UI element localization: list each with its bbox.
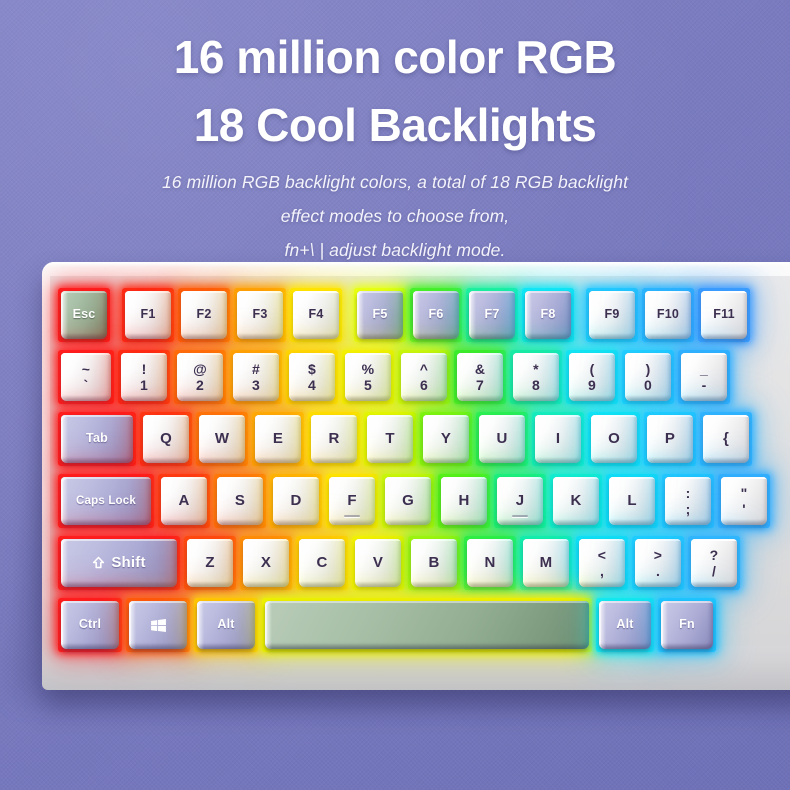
key-5[interactable]: %5 xyxy=(345,353,391,401)
key-6[interactable]: ^6 xyxy=(401,353,447,401)
key-glow-f11: F11 xyxy=(698,288,750,342)
number-row: ~`!1@2#3$4%5^6&7*8(9)0_- xyxy=(58,350,734,404)
key-fn[interactable]: Fn xyxy=(661,601,713,649)
key-alt[interactable]: Alt xyxy=(197,601,255,649)
key-glow-n: N xyxy=(464,536,516,590)
key-label: I xyxy=(556,431,560,447)
key-glow-esc: Esc xyxy=(58,288,110,342)
key-label: <, xyxy=(598,548,606,579)
promo-image: 16 million color RGB 18 Cool Backlights … xyxy=(0,0,790,790)
key-3[interactable]: #3 xyxy=(233,353,279,401)
key-label: $4 xyxy=(308,362,316,393)
key-r[interactable]: R xyxy=(311,415,357,463)
key-f1[interactable]: F1 xyxy=(125,291,171,339)
key-label: F5 xyxy=(373,308,388,321)
key-s[interactable]: S xyxy=(217,477,263,525)
key-glow-6: ^6 xyxy=(398,350,450,404)
key-b[interactable]: B xyxy=(411,539,457,587)
key-label: C xyxy=(316,555,327,571)
key-label: F3 xyxy=(253,308,268,321)
key-label: Z xyxy=(205,555,214,571)
key-ctrl[interactable]: Ctrl xyxy=(61,601,119,649)
key-d[interactable]: D xyxy=(273,477,319,525)
key-glow-alt: Alt xyxy=(194,598,258,652)
key-glow-j: J xyxy=(494,474,546,528)
key-label: Y xyxy=(441,431,451,447)
home-row: Caps LockASDFGHJKL:;"' xyxy=(58,474,774,528)
page-title: 16 million color RGB 18 Cool Backlights xyxy=(0,0,790,159)
key-label: W xyxy=(215,431,229,447)
key-label: A xyxy=(178,493,189,509)
key-label: "' xyxy=(741,486,748,517)
key-glow-key-2-11: { xyxy=(700,412,752,466)
key-glow-a: A xyxy=(158,474,210,528)
key-f6[interactable]: F6 xyxy=(413,291,459,339)
key-glow-g: G xyxy=(382,474,434,528)
qwerty-row: TabQWERTYUIOP{ xyxy=(58,412,756,466)
key-label: Tab xyxy=(86,432,108,445)
key-9[interactable]: (9 xyxy=(569,353,615,401)
key-glow-l: L xyxy=(606,474,658,528)
key-label: !1 xyxy=(140,362,148,393)
key-glow-0: )0 xyxy=(622,350,674,404)
key-t[interactable]: T xyxy=(367,415,413,463)
key-glow-e: E xyxy=(252,412,304,466)
key-2[interactable]: @2 xyxy=(177,353,223,401)
key-glow-key-1-0: ~` xyxy=(58,350,114,404)
key-j[interactable]: J xyxy=(497,477,543,525)
key-glow-x: X xyxy=(240,536,292,590)
key-glow-ctrl: Ctrl xyxy=(58,598,122,652)
key-label: G xyxy=(402,493,414,509)
key-glow-f4: F4 xyxy=(290,288,342,342)
key-glow-caps-lock: Caps Lock xyxy=(58,474,154,528)
key-label: F7 xyxy=(485,308,500,321)
key-label: F9 xyxy=(605,308,620,321)
key-label: *8 xyxy=(532,362,540,393)
homing-bar xyxy=(512,515,528,517)
key-label: #3 xyxy=(252,362,260,393)
key-x[interactable]: X xyxy=(243,539,289,587)
key-label: J xyxy=(516,493,525,509)
headline-line-1: 16 million color RGB xyxy=(174,31,616,83)
key-glow-tab: Tab xyxy=(58,412,136,466)
key-tab[interactable]: Tab xyxy=(61,415,133,463)
shift-arrow-up-icon xyxy=(92,556,105,569)
key-glow-f3: F3 xyxy=(234,288,286,342)
key-f4[interactable]: F4 xyxy=(293,291,339,339)
key-label: D xyxy=(290,493,301,509)
key-glow-3: #3 xyxy=(230,350,282,404)
key-glow-1: !1 xyxy=(118,350,170,404)
key-label: P xyxy=(665,431,675,447)
key-n[interactable]: N xyxy=(467,539,513,587)
key-key-3-11[interactable]: "' xyxy=(721,477,767,525)
key-label: F2 xyxy=(197,308,212,321)
bottom-row: CtrlAltAltFn xyxy=(58,598,720,652)
key-label: %5 xyxy=(362,362,375,393)
key-k[interactable]: K xyxy=(553,477,599,525)
key-alt[interactable]: Alt xyxy=(599,601,651,649)
key-glow-h: H xyxy=(438,474,490,528)
key-i[interactable]: I xyxy=(535,415,581,463)
key-glow-f2: F2 xyxy=(178,288,230,342)
key-label: Shift xyxy=(92,555,145,571)
key-label: V xyxy=(373,555,383,571)
key-glow-r: R xyxy=(308,412,360,466)
function-row: EscF1F2F3F4F5F6F7F8F9F10F11 xyxy=(58,288,754,342)
key-m[interactable]: M xyxy=(523,539,569,587)
key-space[interactable] xyxy=(265,601,589,649)
key-f[interactable]: F xyxy=(329,477,375,525)
key-glow-f8: F8 xyxy=(522,288,574,342)
key-key-1-0[interactable]: ~` xyxy=(61,353,111,401)
key-u[interactable]: U xyxy=(479,415,525,463)
key-label: :; xyxy=(686,486,691,517)
key-glow-key-4-9: >. xyxy=(632,536,684,590)
key-label: B xyxy=(428,555,439,571)
key-glow-f10: F10 xyxy=(642,288,694,342)
marketing-copy: 16 million color RGB 18 Cool Backlights … xyxy=(0,0,790,268)
key-q[interactable]: Q xyxy=(143,415,189,463)
key-label: Alt xyxy=(217,618,234,631)
key-label: T xyxy=(385,431,394,447)
key-glow-f9: F9 xyxy=(586,288,638,342)
key-label: _- xyxy=(700,362,708,393)
key-caps-lock[interactable]: Caps Lock xyxy=(61,477,151,525)
key-label: ^6 xyxy=(420,362,428,393)
key-label: F6 xyxy=(429,308,444,321)
key-label: R xyxy=(328,431,339,447)
key-label: F4 xyxy=(309,308,324,321)
key-glow-win xyxy=(126,598,190,652)
key-o[interactable]: O xyxy=(591,415,637,463)
key-key-4-10[interactable]: ?/ xyxy=(691,539,737,587)
subtitle-line-2: effect modes to choose from, xyxy=(0,199,790,233)
key-glow-p: P xyxy=(644,412,696,466)
key-label: F8 xyxy=(541,308,556,321)
key-glow-s: S xyxy=(214,474,266,528)
key-glow-4: $4 xyxy=(286,350,338,404)
key-glow-2: @2 xyxy=(174,350,226,404)
key-glow-space xyxy=(262,598,592,652)
key-label: F1 xyxy=(141,308,156,321)
key-y[interactable]: Y xyxy=(423,415,469,463)
key-e[interactable]: E xyxy=(255,415,301,463)
key-label: E xyxy=(273,431,283,447)
key-glow-v: V xyxy=(352,536,404,590)
key-label: S xyxy=(235,493,245,509)
key-glow-o: O xyxy=(588,412,640,466)
key-key-4-9[interactable]: >. xyxy=(635,539,681,587)
key-key-1-11[interactable]: _- xyxy=(681,353,727,401)
key-shift[interactable]: Shift xyxy=(61,539,177,587)
key-glow-key-1-11: _- xyxy=(678,350,730,404)
key-label: Caps Lock xyxy=(76,495,136,507)
key-glow-u: U xyxy=(476,412,528,466)
key-glow-f: F xyxy=(326,474,378,528)
key-label: U xyxy=(496,431,507,447)
key-f2[interactable]: F2 xyxy=(181,291,227,339)
key-glow-q: Q xyxy=(140,412,192,466)
key-1[interactable]: !1 xyxy=(121,353,167,401)
key-glow-alt: Alt xyxy=(596,598,654,652)
key-label: >. xyxy=(654,548,662,579)
key-glow-key-4-8: <, xyxy=(576,536,628,590)
key-glow-c: C xyxy=(296,536,348,590)
key-key-3-10[interactable]: :; xyxy=(665,477,711,525)
key-label: M xyxy=(540,555,553,571)
shift-row: ShiftZXCVBNM<,>.?/ xyxy=(58,536,744,590)
key-g[interactable]: G xyxy=(385,477,431,525)
key-h[interactable]: H xyxy=(441,477,487,525)
key-glow-8: *8 xyxy=(510,350,562,404)
key-4[interactable]: $4 xyxy=(289,353,335,401)
key-label: &7 xyxy=(475,362,485,393)
key-glow-k: K xyxy=(550,474,602,528)
key-label: F11 xyxy=(713,308,734,321)
key-glow-w: W xyxy=(196,412,248,466)
key-glow-7: &7 xyxy=(454,350,506,404)
key-label: Fn xyxy=(679,618,695,631)
key-label: )0 xyxy=(644,362,652,393)
subtitle-line-1: 16 million RGB backlight colors, a total… xyxy=(0,165,790,199)
key-glow-key-3-11: "' xyxy=(718,474,770,528)
key-glow-b: B xyxy=(408,536,460,590)
key-f3[interactable]: F3 xyxy=(237,291,283,339)
key-glow-t: T xyxy=(364,412,416,466)
key-label: K xyxy=(570,493,581,509)
key-f7[interactable]: F7 xyxy=(469,291,515,339)
key-7[interactable]: &7 xyxy=(457,353,503,401)
key-0[interactable]: )0 xyxy=(625,353,671,401)
key-win[interactable] xyxy=(129,601,187,649)
key-label: Ctrl xyxy=(79,618,101,631)
key-label: F10 xyxy=(657,308,679,321)
key-8[interactable]: *8 xyxy=(513,353,559,401)
key-v[interactable]: V xyxy=(355,539,401,587)
key-glow-fn: Fn xyxy=(658,598,716,652)
key-l[interactable]: L xyxy=(609,477,655,525)
key-glow-f1: F1 xyxy=(122,288,174,342)
key-glow-y: Y xyxy=(420,412,472,466)
key-label: H xyxy=(458,493,469,509)
key-f8[interactable]: F8 xyxy=(525,291,571,339)
key-f10[interactable]: F10 xyxy=(645,291,691,339)
key-glow-z: Z xyxy=(184,536,236,590)
subtitle: 16 million RGB backlight colors, a total… xyxy=(0,165,790,267)
key-label: ~` xyxy=(82,362,90,393)
key-label: L xyxy=(627,493,636,509)
key-label: N xyxy=(484,555,495,571)
key-glow-key-3-10: :; xyxy=(662,474,714,528)
key-z[interactable]: Z xyxy=(187,539,233,587)
mechanical-keyboard: EscF1F2F3F4F5F6F7F8F9F10F11~`!1@2#3$4%5^… xyxy=(42,262,790,690)
key-label: Alt xyxy=(616,618,633,631)
key-label: { xyxy=(723,431,729,447)
key-glow-i: I xyxy=(532,412,584,466)
key-glow-key-4-10: ?/ xyxy=(688,536,740,590)
key-label: F xyxy=(347,493,356,509)
key-label: Esc xyxy=(73,308,96,321)
key-w[interactable]: W xyxy=(199,415,245,463)
windows-icon xyxy=(151,619,166,632)
key-glow-m: M xyxy=(520,536,572,590)
key-f9[interactable]: F9 xyxy=(589,291,635,339)
key-key-2-11[interactable]: { xyxy=(703,415,749,463)
key-glow-shift: Shift xyxy=(58,536,180,590)
key-glow-f7: F7 xyxy=(466,288,518,342)
key-label: ?/ xyxy=(710,548,719,579)
key-glow-f5: F5 xyxy=(354,288,406,342)
key-glow-f6: F6 xyxy=(410,288,462,342)
key-label: @2 xyxy=(193,362,207,393)
key-label: Q xyxy=(160,431,172,447)
key-esc[interactable]: Esc xyxy=(61,291,107,339)
key-p[interactable]: P xyxy=(647,415,693,463)
key-glow-5: %5 xyxy=(342,350,394,404)
headline-line-2: 18 Cool Backlights xyxy=(0,92,790,160)
key-f5[interactable]: F5 xyxy=(357,291,403,339)
key-label: O xyxy=(608,431,620,447)
key-f11[interactable]: F11 xyxy=(701,291,747,339)
key-key-4-8[interactable]: <, xyxy=(579,539,625,587)
key-glow-9: (9 xyxy=(566,350,618,404)
key-glow-d: D xyxy=(270,474,322,528)
key-label: (9 xyxy=(588,362,596,393)
key-c[interactable]: C xyxy=(299,539,345,587)
homing-bar xyxy=(344,515,360,517)
key-a[interactable]: A xyxy=(161,477,207,525)
key-label: X xyxy=(261,555,271,571)
